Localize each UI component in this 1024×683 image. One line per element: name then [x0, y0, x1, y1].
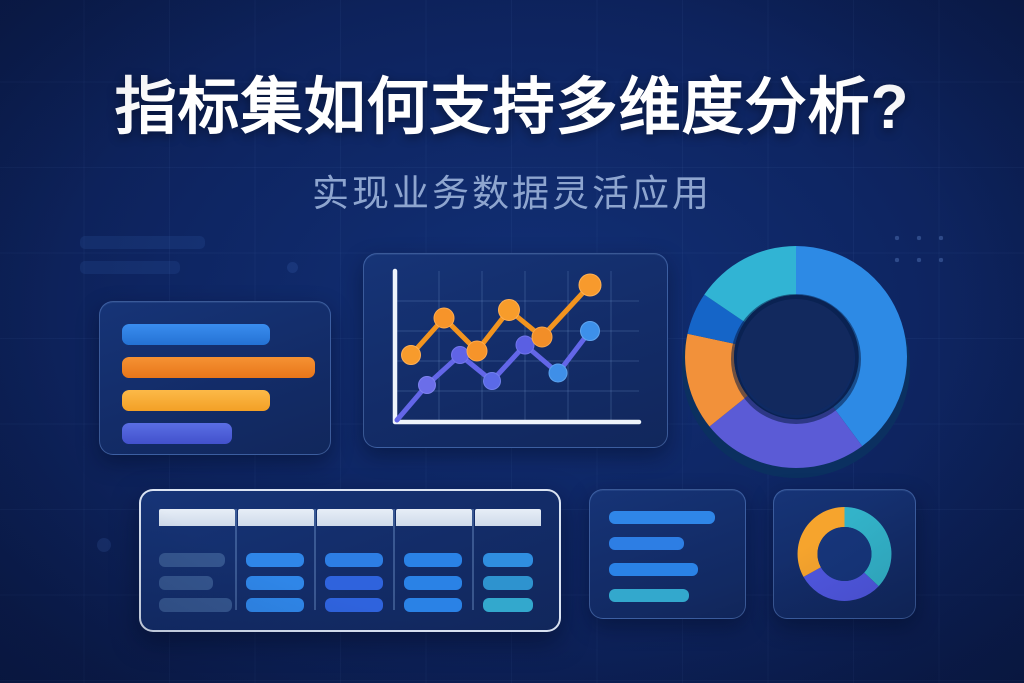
list-bar-3	[609, 563, 698, 576]
page-title: 指标集如何支持多维度分析?	[0, 56, 1024, 146]
bar-orange	[122, 357, 315, 378]
ghost-bar-1	[80, 236, 205, 249]
line-chart-svg	[364, 254, 667, 447]
table-column-divider	[393, 509, 395, 610]
list-bar-2	[609, 537, 684, 550]
page-subtitle: 实现业务数据灵活应用	[0, 163, 1024, 217]
table-row	[404, 576, 462, 590]
table-row	[159, 598, 232, 612]
table-column-divider	[314, 509, 316, 610]
table-column-divider	[472, 509, 474, 610]
trend-line-chart-widget[interactable]	[363, 253, 668, 448]
list-widget[interactable]	[589, 489, 746, 619]
small-donut-chart	[774, 490, 915, 618]
table-header-cell	[238, 509, 314, 526]
ghost-dot-1	[287, 262, 298, 273]
bar-amber	[122, 390, 270, 411]
table-row	[325, 553, 383, 567]
ghost-dot-2	[97, 538, 111, 552]
table-row	[325, 598, 383, 612]
bar-blue	[122, 324, 270, 345]
table-header-cell	[396, 509, 472, 526]
table-row	[246, 598, 304, 612]
table-row	[246, 553, 304, 567]
table-row	[404, 598, 462, 612]
list-bar-4	[609, 589, 689, 602]
table-row	[159, 576, 213, 590]
table-row	[159, 553, 225, 567]
table-row	[325, 576, 383, 590]
table-row	[246, 576, 304, 590]
table-row	[483, 553, 533, 567]
table-row	[404, 553, 462, 567]
table-header-cell	[475, 509, 541, 526]
ghost-bar-2	[80, 261, 180, 274]
table-header-cell	[317, 509, 393, 526]
list-bar-1	[609, 511, 715, 524]
bar-purple	[122, 423, 232, 444]
data-table-widget[interactable]	[139, 489, 561, 632]
infographic-canvas: 指标集如何支持多维度分析? 实现业务数据灵活应用	[0, 0, 1024, 683]
table-header-cell	[159, 509, 235, 526]
table-row	[483, 576, 533, 590]
small-donut-widget[interactable]	[773, 489, 916, 619]
table-row	[483, 598, 533, 612]
table-column-divider	[235, 509, 237, 610]
large-donut-chart[interactable]	[676, 243, 916, 471]
horizontal-bar-widget[interactable]	[99, 301, 331, 455]
